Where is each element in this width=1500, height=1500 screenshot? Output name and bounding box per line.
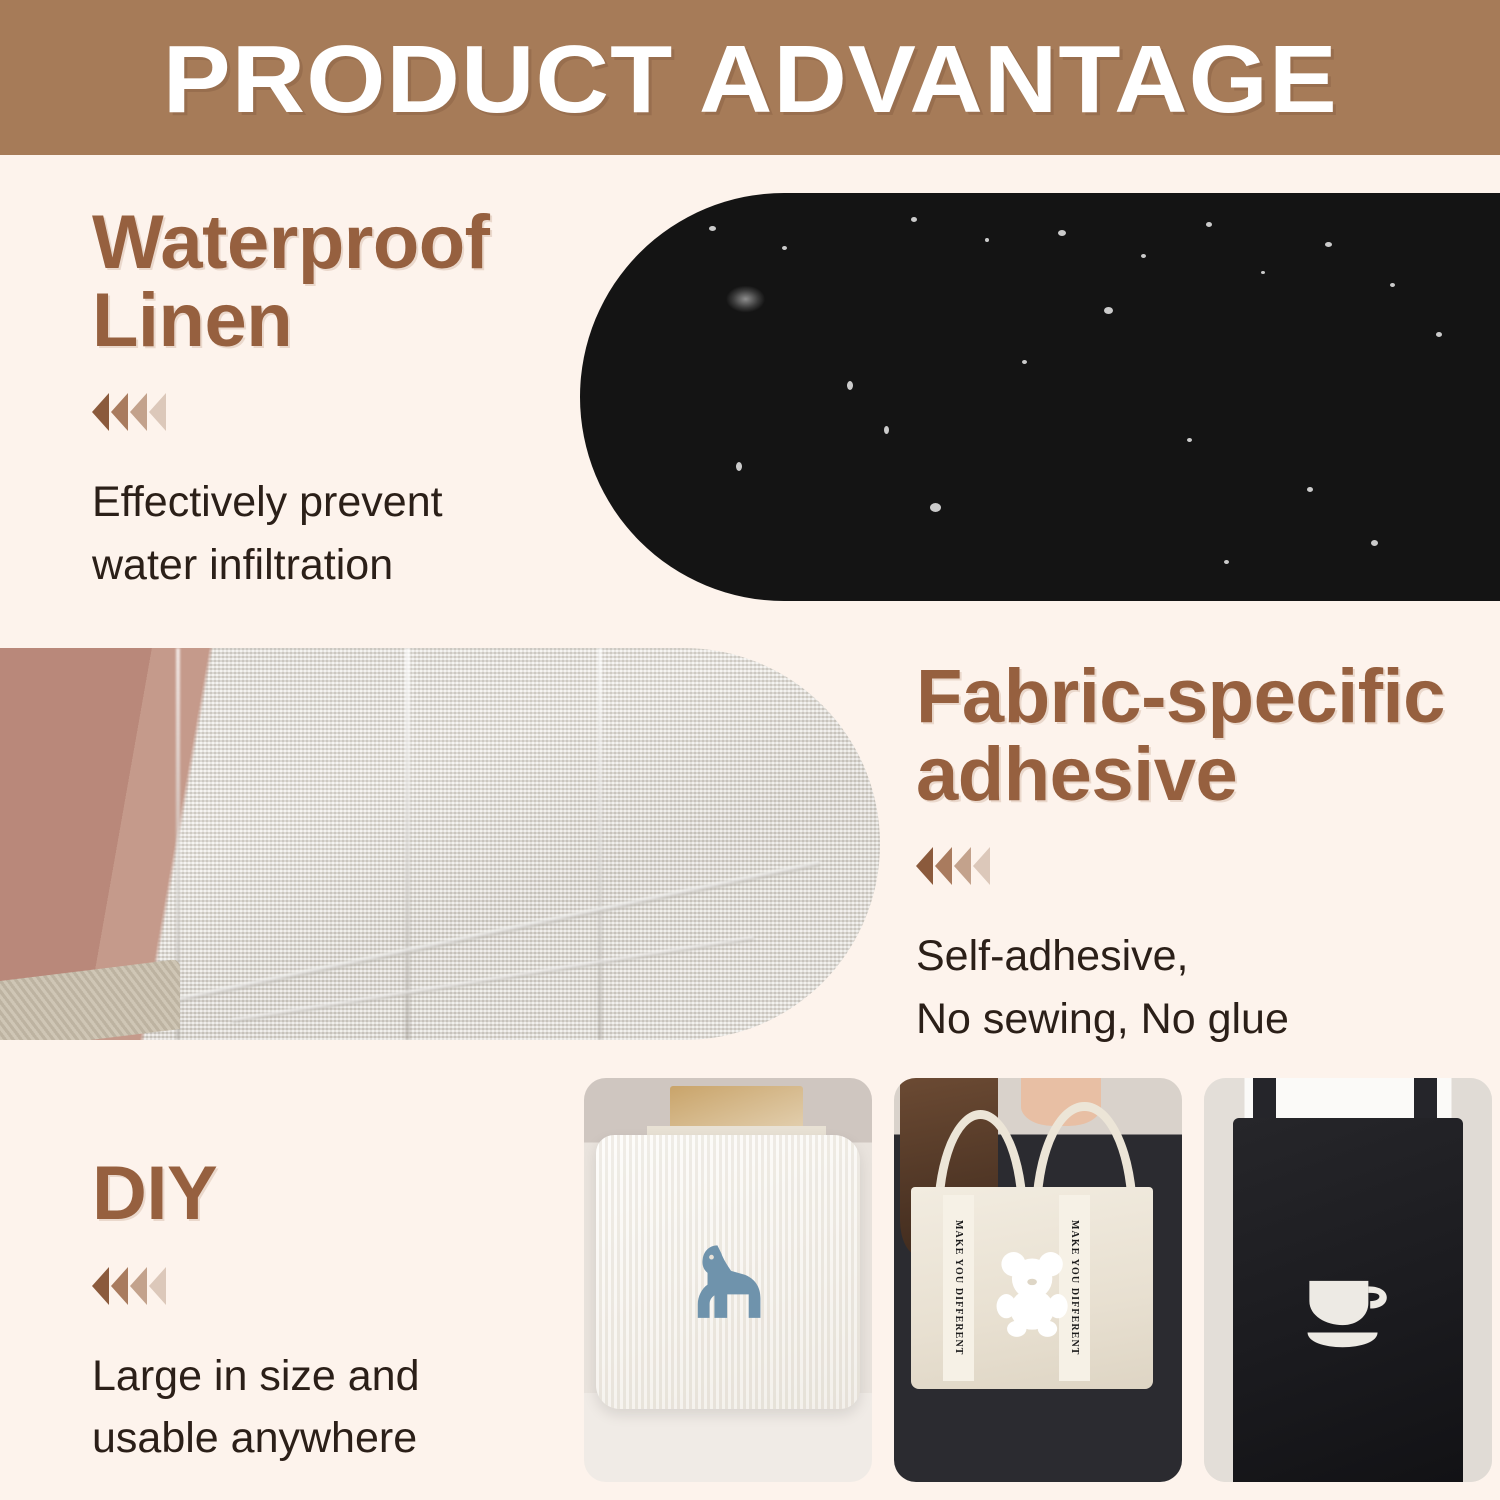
chevron-left-icon-1 <box>92 1267 109 1305</box>
chevron-left-icon-2 <box>111 393 128 431</box>
chevron-left-icon-1 <box>916 847 933 885</box>
tote-bag-body: MAKE YOU DIFFERENT MAKE YOU DIFFERENT <box>911 1187 1153 1389</box>
feature-body-diy: Large in size and usable anywhere <box>92 1345 562 1471</box>
chevron-left-icon-4 <box>149 1267 166 1305</box>
chevron-divider-diy <box>92 1267 562 1305</box>
chevron-left-icon-1 <box>92 393 109 431</box>
chevron-left-icon-4 <box>973 847 990 885</box>
feature-block-waterproof: Waterproof Linen Effectively prevent wat… <box>92 204 562 597</box>
feature-body-waterproof: Effectively prevent water infiltration <box>92 471 562 597</box>
tote-strap-label-left: MAKE YOU DIFFERENT <box>953 1220 964 1356</box>
feature-block-diy: DIY Large in size and usable anywhere <box>92 1155 562 1470</box>
gallery-photo-pillow <box>584 1078 872 1482</box>
feature-heading-diy: DIY <box>92 1155 562 1233</box>
tote-strap-text-left: MAKE YOU DIFFERENT <box>943 1195 974 1381</box>
bear-silhouette-patch-icon <box>991 1248 1073 1337</box>
chevron-left-icon-2 <box>935 847 952 885</box>
linen-hem-edge <box>0 959 180 1040</box>
chevron-left-icon-3 <box>954 847 971 885</box>
feature-body-adhesive: Self-adhesive, No sewing, No glue <box>916 925 1476 1051</box>
teacup-silhouette-patch-icon <box>1302 1264 1394 1359</box>
feature-heading-adhesive: Fabric-specific adhesive <box>916 658 1476 813</box>
chevron-left-icon-4 <box>149 393 166 431</box>
feature-heading-waterproof: Waterproof Linen <box>92 204 562 359</box>
chevron-divider-adhesive <box>916 847 1476 885</box>
dog-silhouette-patch-icon <box>688 1223 786 1344</box>
chevron-left-icon-3 <box>130 393 147 431</box>
chevron-left-icon-3 <box>130 1267 147 1305</box>
chevron-divider-waterproof <box>92 393 562 431</box>
feature-block-adhesive: Fabric-specific adhesive Self-adhesive, … <box>916 658 1476 1051</box>
waterproof-linen-photo <box>580 193 1500 601</box>
gallery-photo-apron <box>1204 1078 1492 1482</box>
page-title: PRODUCT ADVANTAGE <box>162 32 1337 128</box>
linen-fabric-photo <box>0 648 880 1040</box>
apron-body <box>1233 1118 1463 1482</box>
page-header-banner: PRODUCT ADVANTAGE <box>0 0 1500 155</box>
chevron-left-icon-2 <box>111 1267 128 1305</box>
gallery-photo-tote-bag: MAKE YOU DIFFERENT MAKE YOU DIFFERENT <box>894 1078 1182 1482</box>
